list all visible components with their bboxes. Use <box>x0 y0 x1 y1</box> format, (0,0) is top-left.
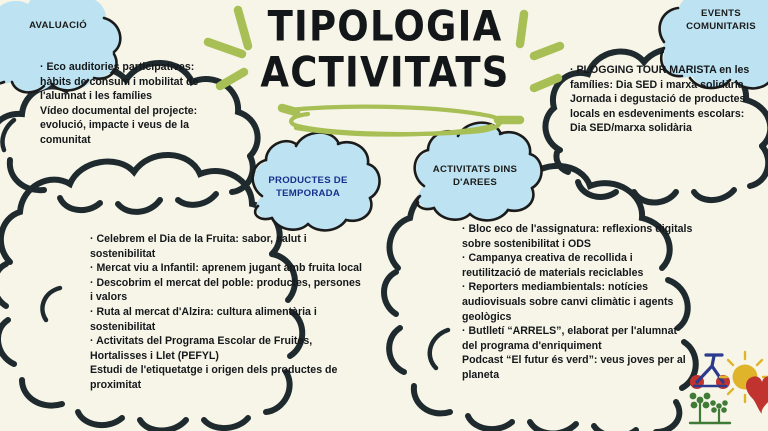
page-title-line-2: ACTIVITATS <box>240 52 530 94</box>
text-line: · Bloc eco de l'assignatura: reflexions … <box>462 222 694 251</box>
page-title-line-1: TIPOLOGIA <box>240 6 530 48</box>
text-line: · Campanya creativa de recollida i reuti… <box>462 251 694 280</box>
heart-icon <box>746 376 768 414</box>
text-line: · Reporters mediambientals: notícies aud… <box>462 280 694 324</box>
badge-label-events[interactable]: EVENTS COMUNITARIS <box>678 8 764 33</box>
badge-label-arees[interactable]: ACTIVITATS DINS D'AREES <box>417 164 533 189</box>
green-scribble-underline <box>288 107 500 135</box>
sun-icon <box>720 352 768 402</box>
text-line: Podcast “El futur és verd”: veus joves p… <box>462 353 694 382</box>
text-line: · Mercat viu a Infantil: aprenem jugant … <box>90 261 362 276</box>
poster-canvas: .ol { fill:none; stroke:#1E2A2E; stroke-… <box>0 0 768 431</box>
text-block-avaluacio: · Eco auditories participatives: hàbits … <box>40 60 226 148</box>
flowers-icon <box>690 393 730 423</box>
text-line: · Butlletí “ARRELS”, elaborat per l'alum… <box>462 324 694 353</box>
text-line: · Eco auditories participatives: hàbits … <box>40 60 226 104</box>
text-line: · PLOGGING TOUR MARISTA en les famílies:… <box>570 63 758 92</box>
text-line: · Ruta al mercat d'Alzira: cultura alime… <box>90 305 362 334</box>
badge-label-productes[interactable]: PRODUCTES DE TEMPORADA <box>253 175 363 200</box>
text-block-arees: · Bloc eco de l'assignatura: reflexions … <box>462 222 694 383</box>
text-block-productes: · Celebrem el Dia de la Fruita: sabor, s… <box>90 232 362 393</box>
text-line: Jornada i degustació de productes locals… <box>570 92 758 136</box>
text-block-events: · PLOGGING TOUR MARISTA en les famílies:… <box>570 63 758 136</box>
text-line: · Descobrim el mercat del poble: product… <box>90 276 362 305</box>
text-line: Vídeo documental del projecte: evolució,… <box>40 104 226 148</box>
page-title: TIPOLOGIA ACTIVITATS <box>240 6 530 89</box>
text-line: · Activitats del Programa Escolar de Fru… <box>90 334 362 363</box>
scooter-icon <box>690 355 730 389</box>
badge-label-avaluacio[interactable]: AVALUACIÓ <box>8 20 108 33</box>
text-line: · Celebrem el Dia de la Fruita: sabor, s… <box>90 232 362 261</box>
text-line: Estudi de l'etiquetatge i origen dels pr… <box>90 363 362 392</box>
